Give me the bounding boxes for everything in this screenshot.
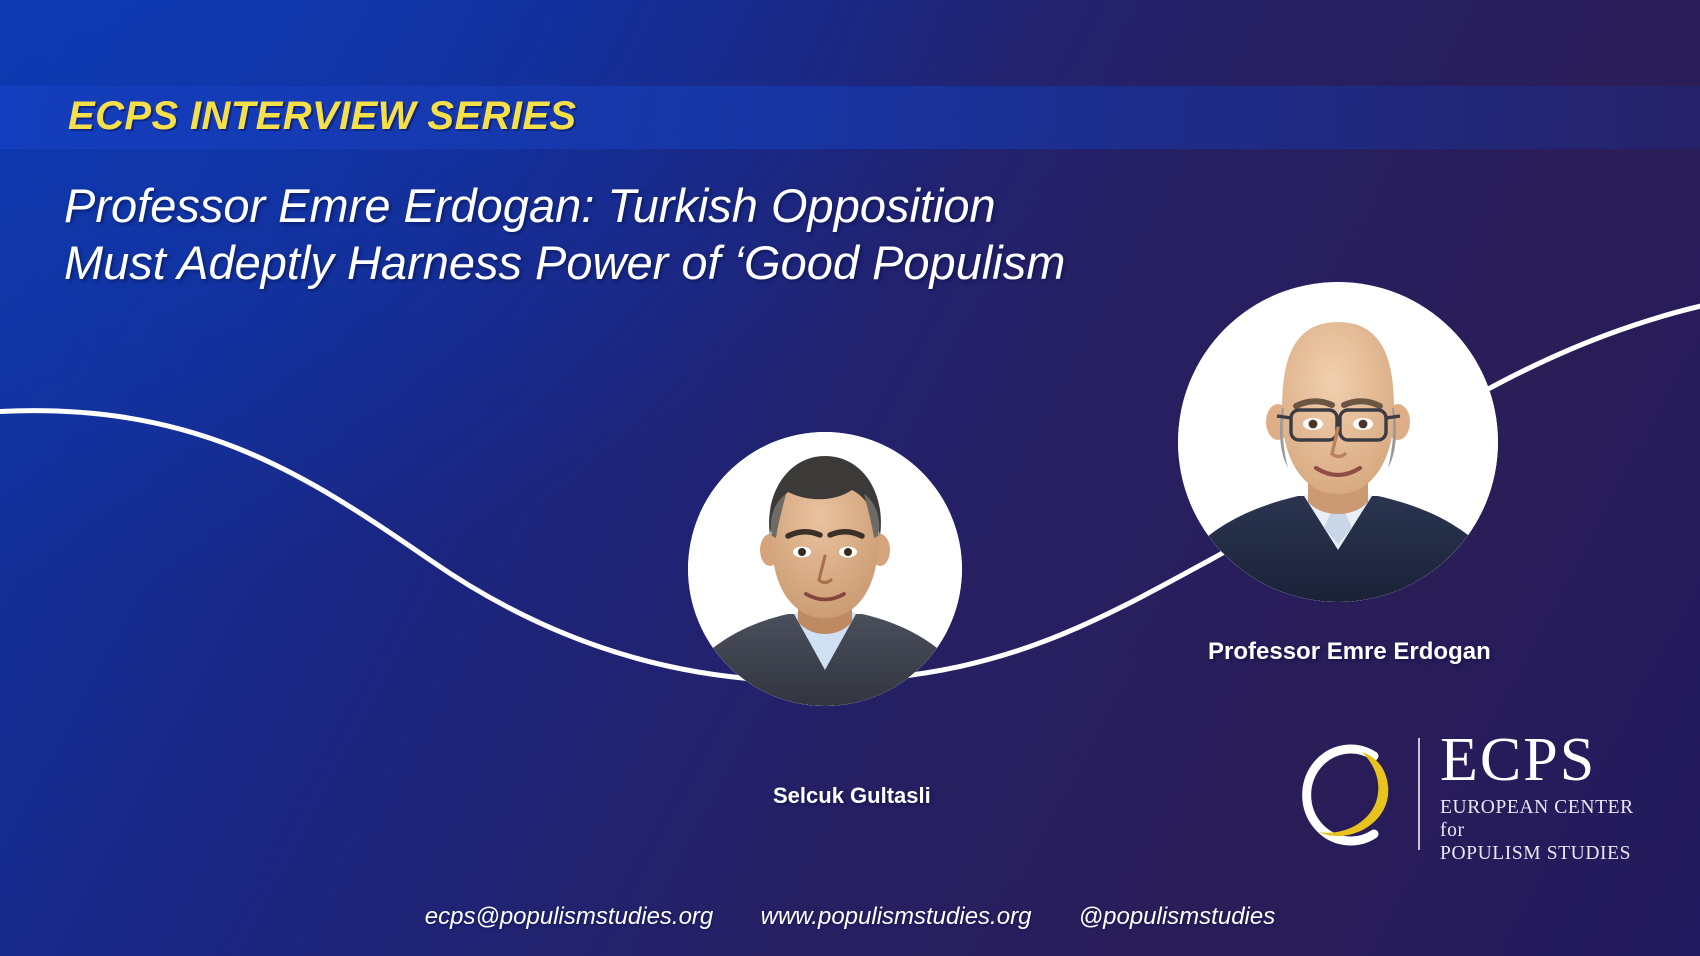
promo-poster: ECPS INTERVIEW SERIES Professor Emre Erd…	[0, 0, 1700, 956]
avatar	[688, 432, 962, 706]
page-title-line-2: Must Adeptly Harness Power of ‘Good Popu…	[64, 234, 1244, 291]
ecps-logo: ECPS EUROPEAN CENTER for POPULISM STUDIE…	[1288, 730, 1642, 860]
logo-subtitle-line-1: EUROPEAN CENTER for	[1440, 796, 1640, 842]
logo-text-block: ECPS EUROPEAN CENTER for POPULISM STUDIE…	[1440, 730, 1640, 865]
portrait-professor-emre-erdogan	[1178, 282, 1498, 602]
logo-subtitle-line-2: POPULISM STUDIES	[1440, 842, 1640, 865]
footer-contact-bar: ecps@populismstudies.org www.populismstu…	[0, 903, 1700, 931]
logo-subtitle: EUROPEAN CENTER for POPULISM STUDIES	[1440, 796, 1640, 865]
page-title: Professor Emre Erdogan: Turkish Oppositi…	[64, 177, 1244, 292]
footer-email[interactable]: ecps@populismstudies.org	[425, 903, 714, 931]
series-kicker: ECPS INTERVIEW SERIES	[68, 94, 577, 139]
logo-acronym: ECPS	[1440, 730, 1640, 791]
avatar	[1178, 282, 1498, 602]
page-title-line-1: Professor Emre Erdogan: Turkish Oppositi…	[64, 177, 1244, 234]
avatar-caption: Professor Emre Erdogan	[1208, 638, 1491, 666]
footer-social-handle[interactable]: @populismstudies	[1079, 903, 1275, 931]
avatar-caption: Selcuk Gultasli	[773, 783, 931, 809]
footer-website[interactable]: www.populismstudies.org	[761, 903, 1032, 931]
logo-divider	[1418, 738, 1420, 850]
portrait-selcuk-gultasli	[688, 432, 962, 706]
ecps-logo-mark-icon	[1288, 736, 1408, 854]
